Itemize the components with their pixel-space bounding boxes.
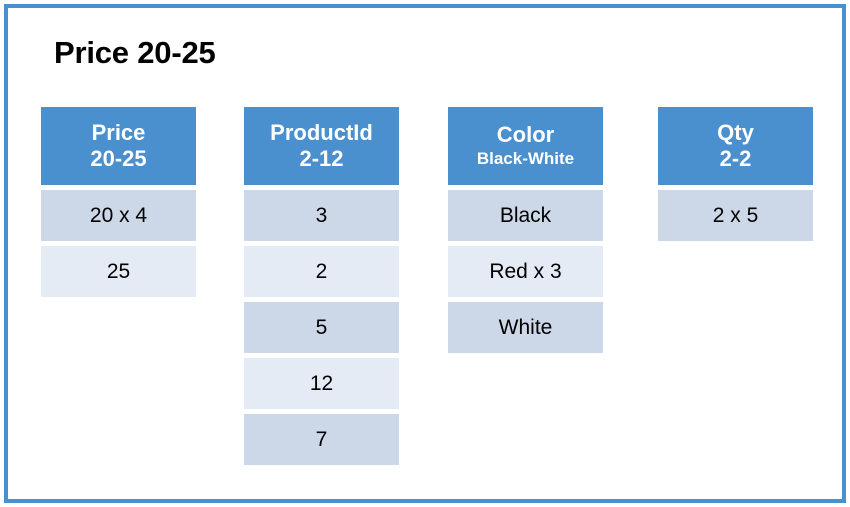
cell[interactable]: 2	[244, 246, 399, 297]
column-header[interactable]: ColorBlack-White	[448, 107, 603, 185]
column-3: ColorBlack-WhiteBlackRed x 3White	[448, 107, 603, 358]
column-1: Price20-2520 x 425	[41, 107, 196, 302]
column-4: Qty2-22 x 5	[658, 107, 813, 246]
column-cells: 2 x 5	[658, 190, 813, 241]
cell[interactable]: White	[448, 302, 603, 353]
column-header-subtitle: 2-2	[720, 146, 752, 172]
column-cells: 20 x 425	[41, 190, 196, 297]
cell[interactable]: 5	[244, 302, 399, 353]
cell[interactable]: Black	[448, 190, 603, 241]
column-2: ProductId2-12325127	[244, 107, 399, 470]
column-header-title: Price	[92, 120, 146, 146]
column-header[interactable]: Price20-25	[41, 107, 196, 185]
column-cells: 325127	[244, 190, 399, 465]
column-header-subtitle: Black-White	[477, 148, 574, 170]
cell[interactable]: 20 x 4	[41, 190, 196, 241]
page-title: Price 20-25	[54, 34, 216, 72]
column-header-title: Color	[497, 122, 554, 148]
cell[interactable]: 12	[244, 358, 399, 409]
cell[interactable]: 3	[244, 190, 399, 241]
cell[interactable]: 7	[244, 414, 399, 465]
column-header-subtitle: 20-25	[90, 146, 146, 172]
cell[interactable]: 25	[41, 246, 196, 297]
cell[interactable]: Red x 3	[448, 246, 603, 297]
column-group: Price20-2520 x 425ProductId2-12325127Col…	[41, 107, 831, 497]
column-header-title: ProductId	[270, 120, 373, 146]
column-header[interactable]: Qty2-2	[658, 107, 813, 185]
column-header-title: Qty	[717, 120, 754, 146]
column-header[interactable]: ProductId2-12	[244, 107, 399, 185]
slide-canvas: Price 20-25 Price20-2520 x 425ProductId2…	[0, 0, 850, 507]
slide-border-frame: Price 20-25 Price20-2520 x 425ProductId2…	[4, 4, 846, 503]
column-cells: BlackRed x 3White	[448, 190, 603, 353]
cell[interactable]: 2 x 5	[658, 190, 813, 241]
column-header-subtitle: 2-12	[299, 146, 343, 172]
